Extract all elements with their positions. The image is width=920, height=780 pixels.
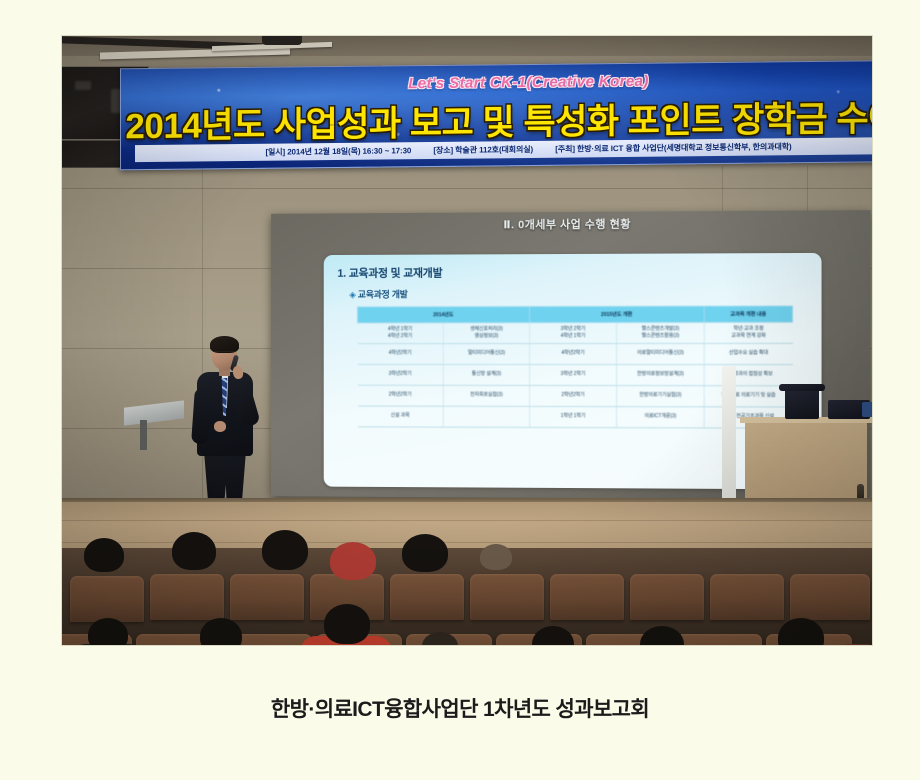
- slide-bullet-1: ◈교육과정 개발: [349, 286, 807, 300]
- slide-table-header-row: 2014년도 2015년도 개편 교과목 개편 내용: [358, 306, 793, 323]
- seat: [550, 574, 624, 620]
- slide-table-cell: 산업수요 실습 확대: [704, 343, 792, 364]
- audience-head: [532, 626, 574, 645]
- slide-table-cell: 신설 과목: [358, 406, 444, 427]
- slide-table-row: 4학년 1학기4학년 2학기생체신호처리(3)영상정보(3)3학년 2학기4학년…: [358, 322, 793, 343]
- seat: [470, 574, 544, 620]
- slide-table-cell: 3학년 2학기: [530, 364, 617, 385]
- page-root: Let's Start CK-1(Creative Korea) 2014년도 …: [0, 0, 920, 780]
- audience-head: [480, 544, 512, 570]
- presenter-hand: [214, 421, 226, 432]
- side-whiteboard: [722, 366, 736, 506]
- audience-head: [330, 542, 376, 580]
- slide-table-cell: 학년·교과 조정교과목 연계 강화: [704, 322, 792, 343]
- slide-table-head: 2014년도 2015년도 개편 교과목 개편 내용: [358, 306, 793, 323]
- lectern-stem: [140, 420, 147, 450]
- audience-head: [172, 532, 216, 570]
- seat: [150, 574, 224, 620]
- slide-bullet-1-label: 교육과정 개발: [358, 289, 408, 299]
- audience-head: [778, 618, 824, 645]
- audience-head: [262, 530, 308, 570]
- slide-heading-1: 1. 교육과정 및 교재개발: [337, 263, 807, 281]
- slide-table-cell: 2학년2학기: [530, 385, 617, 406]
- equipment-handle: [779, 384, 825, 391]
- seat: [390, 574, 464, 620]
- seat: [790, 574, 870, 620]
- slide-col-header: 교과목 개편 내용: [704, 306, 792, 322]
- banner-place-text: [장소] 학술관 112호(대회의실): [433, 145, 533, 155]
- wall-seam: [62, 188, 872, 189]
- slide-table-cell: 3학년2학기: [358, 364, 444, 385]
- slide-table-cell: 의료멀티미디어통신(3): [617, 343, 705, 364]
- banner-host-text: [주최] 한방·의료 ICT 융합 사업단(세명대학교 정보통신학부, 한의과대…: [555, 142, 791, 153]
- slide-table-cell: 4학년2학기: [530, 343, 617, 364]
- projector-mount-icon: [262, 36, 302, 45]
- photo-caption: 한방·의료ICT융합사업단 1차년도 성과보고회: [0, 693, 920, 723]
- slide-table-cell: 생체신호처리(3)영상정보(3): [443, 323, 529, 344]
- event-banner: Let's Start CK-1(Creative Korea) 2014년도 …: [120, 60, 872, 171]
- slide-table-cell: 전자회로실험(3): [443, 385, 529, 406]
- slide-table-cell: 한방의료기기실험(3): [617, 386, 705, 407]
- slide-table-cell: 2학년2학기: [358, 385, 444, 406]
- seat: [630, 574, 704, 620]
- slide-section-heading: Ⅱ. 0개세부 사업 수행 현황: [271, 210, 871, 237]
- floor-seam: [62, 520, 872, 521]
- slide-table-cell: 3학년 2학기4학년 1학기: [530, 322, 617, 343]
- seat: [230, 574, 304, 620]
- slide-table-cell: 한방의료정보망설계(3): [617, 365, 705, 386]
- side-table: [745, 421, 867, 501]
- seat: [70, 576, 144, 622]
- equipment-box: [862, 402, 872, 417]
- slide-table-cell: 한의학과의 접점성 확보: [704, 365, 792, 386]
- audience-head: [84, 538, 124, 572]
- audience-head: [402, 534, 448, 572]
- diamond-bullet-icon: ◈: [349, 290, 356, 300]
- slide-table-cell: 4학년2학기: [358, 344, 444, 365]
- seat: [676, 634, 762, 645]
- conference-photo-frame: Let's Start CK-1(Creative Korea) 2014년도 …: [62, 36, 872, 645]
- slide-table-row: 4학년2학기멀티미디어통신(3)4학년2학기의료멀티미디어통신(3)산업수요 실…: [358, 343, 793, 364]
- audience-head: [200, 618, 242, 645]
- conference-photo: Let's Start CK-1(Creative Korea) 2014년도 …: [62, 36, 872, 645]
- seat: [710, 574, 784, 620]
- slide-table-cell: 의료ICT개론(3): [617, 407, 705, 428]
- glasses-icon: [213, 351, 236, 357]
- slide-table-cell: 1학년 1학기: [530, 406, 617, 427]
- slide-table-cell: 멀티미디어통신(3): [443, 344, 529, 365]
- panel-glint: [75, 81, 91, 90]
- audience-head: [88, 618, 128, 645]
- slide-table-cell: 4학년 1학기4학년 2학기: [358, 323, 444, 344]
- banner-date-text: [일시] 2014년 12월 18일(목) 16:30 ~ 17:30: [265, 146, 411, 157]
- slide-table-cell: 통신망 설계(3): [443, 364, 529, 385]
- slide-table-cell: [443, 406, 529, 427]
- slide-table-cell: 헬스콘텐츠개발(3)헬스콘텐츠활용(3): [617, 322, 705, 343]
- equipment-box: [785, 389, 819, 419]
- slide-col-header: 2015년도 개편: [530, 306, 705, 322]
- audience-area: [62, 548, 872, 645]
- audience-head: [324, 604, 370, 644]
- audience-head: [640, 626, 684, 645]
- slide-col-header: 2014년도: [358, 307, 530, 323]
